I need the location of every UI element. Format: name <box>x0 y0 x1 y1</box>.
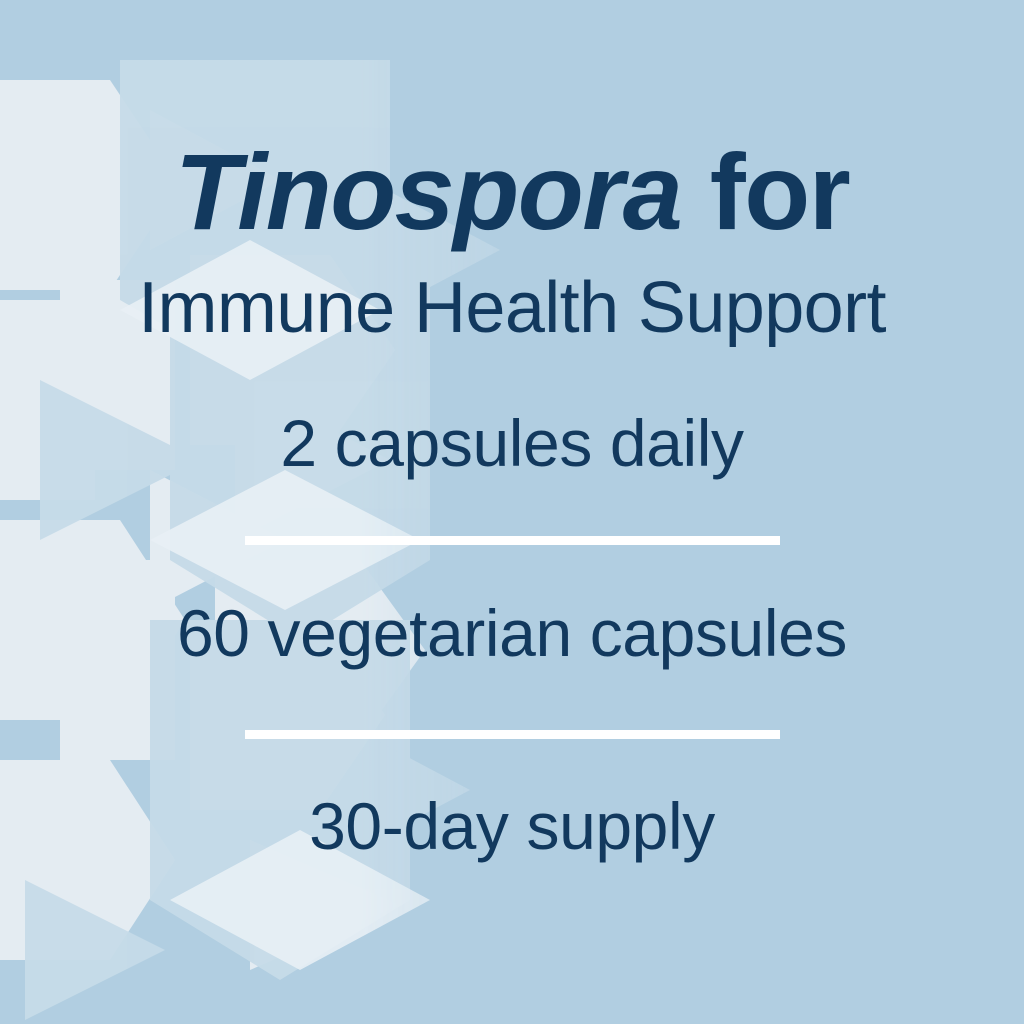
card-text-content: Tinospora for Immune Health Support 2 ca… <box>0 0 1024 1024</box>
page-subtitle: Immune Health Support <box>0 272 1024 344</box>
divider-top <box>245 536 780 545</box>
title-botanical-name: Tinospora <box>175 131 682 252</box>
title-connector: for <box>681 131 849 252</box>
fact-count: 60 vegetarian capsules <box>0 600 1024 666</box>
fact-dosage: 2 capsules daily <box>0 410 1024 476</box>
fact-supply-duration: 30-day supply <box>0 793 1024 859</box>
page-title: Tinospora for <box>0 138 1024 246</box>
divider-bottom <box>245 730 780 739</box>
product-info-card: Tinospora for Immune Health Support 2 ca… <box>0 0 1024 1024</box>
